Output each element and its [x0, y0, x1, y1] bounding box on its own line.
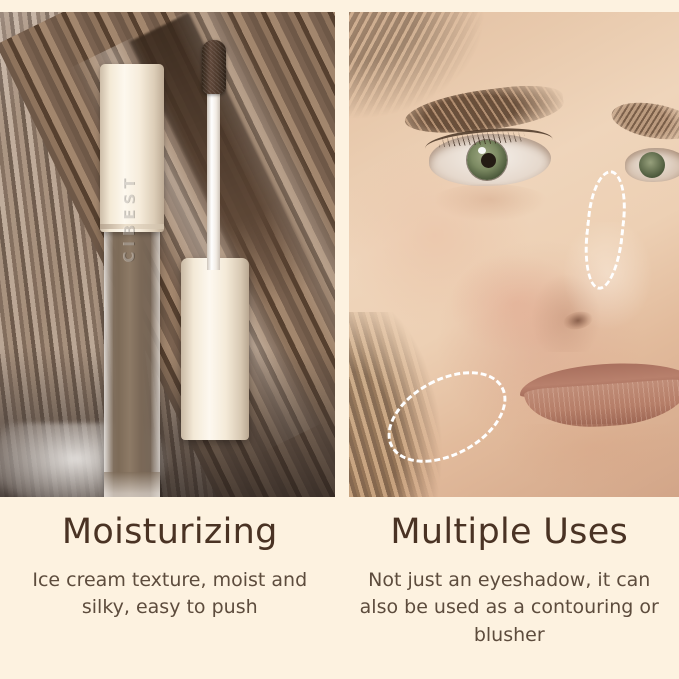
wand-cap: [181, 258, 249, 440]
caption-body: Ice cream texture, moist and silky, easy…: [10, 567, 330, 622]
caption-body: Not just an eyeshadow, it can also be us…: [350, 567, 670, 650]
tube-highlight-left: [104, 229, 113, 497]
brand-label: CIBEST: [120, 133, 138, 303]
eye: [429, 134, 551, 186]
eye-far: [625, 148, 679, 182]
wand-doe-foot-tip: [202, 40, 226, 94]
wand-stem: [207, 90, 220, 270]
caption-title: Moisturizing: [10, 514, 330, 551]
lips: [519, 364, 679, 430]
caption-multiple-uses: Multiple Uses Not just an eyeshadow, it …: [340, 500, 679, 679]
caption-moisturizing: Moisturizing Ice cream texture, moist an…: [0, 500, 340, 679]
face-shot-panel: [349, 12, 679, 497]
product-shot-panel: CIBEST: [0, 12, 335, 497]
chin: [499, 424, 679, 497]
caption-row: Moisturizing Ice cream texture, moist an…: [0, 500, 679, 679]
caption-title: Multiple Uses: [350, 514, 670, 551]
product-tube: CIBEST: [96, 64, 168, 484]
image-panel-row: CIBEST: [0, 12, 679, 497]
tube-clear-base: [104, 472, 160, 497]
product-feature-graphic: CIBEST: [0, 0, 679, 679]
tube-highlight-right: [151, 229, 160, 497]
applicator-wand: [178, 40, 256, 440]
